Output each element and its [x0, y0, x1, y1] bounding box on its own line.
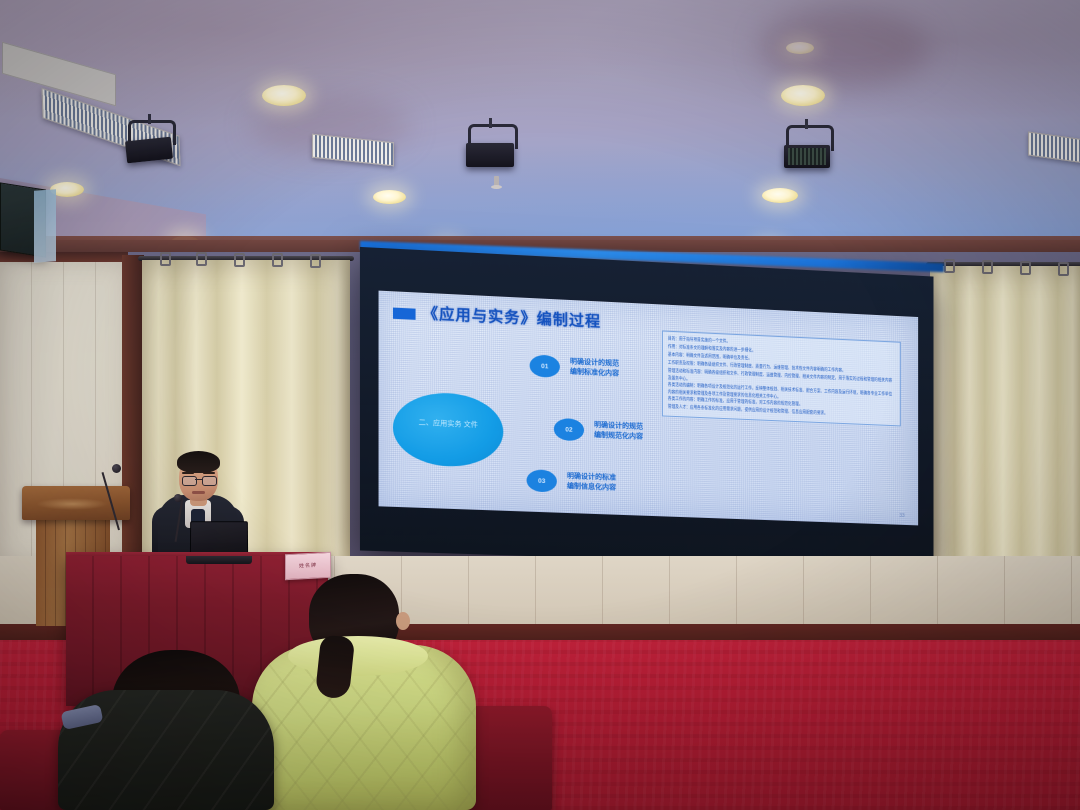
- name-placard-text: 姓名牌: [286, 561, 330, 570]
- step-label-01: 明确设计的规范 编制标准化内容: [570, 357, 619, 380]
- slide-page-number: 33: [899, 513, 904, 519]
- stage-spotlight: [466, 143, 514, 167]
- step-item-03: 03 明确设计的标准 编制信息化内容: [527, 469, 617, 494]
- name-placard: 姓名牌: [285, 552, 331, 580]
- audience-collar: [288, 636, 428, 676]
- stage-spotlight-lens: [788, 148, 826, 165]
- recessed-downlight: [762, 188, 798, 203]
- step-label-02: 明确设计的规范 编制规范化内容: [594, 420, 643, 443]
- step-number-01: 01: [530, 354, 560, 378]
- presenter-mouth: [192, 491, 205, 494]
- step-item-01: 01 明确设计的规范 编制标准化内容: [530, 354, 619, 380]
- presenter-eyebrow: [203, 472, 215, 474]
- recessed-downlight: [262, 85, 306, 106]
- step-number-02: 02: [554, 418, 584, 441]
- recessed-downlight: [786, 42, 814, 54]
- projection-screen: 《应用与实务》编制过程 二、应用实务 文件 01 明确设计的规范 编制标准化内容…: [360, 247, 934, 569]
- center-bubble: 二、应用实务 文件: [393, 391, 503, 468]
- stage-spotlight-stem: [148, 114, 151, 124]
- slide-surface: 《应用与实务》编制过程 二、应用实务 文件 01 明确设计的规范 编制标准化内容…: [379, 291, 919, 526]
- presenter-eyebrow: [182, 472, 194, 474]
- step-number-03: 03: [527, 469, 557, 492]
- slide-title: 《应用与实务》编制过程: [423, 302, 601, 332]
- laptop-base: [186, 556, 252, 564]
- conference-hall-photo: 《应用与实务》编制过程 二、应用实务 文件 01 明确设计的规范 编制标准化内容…: [0, 0, 1080, 810]
- slide-title-marker: [393, 308, 416, 320]
- presentation-slide: 《应用与实务》编制过程 二、应用实务 文件 01 明确设计的规范 编制标准化内容…: [379, 291, 919, 526]
- recessed-downlight: [373, 190, 406, 204]
- glasses-icon: [182, 476, 197, 486]
- fire-sprinkler: [494, 176, 499, 188]
- microphone-head: [174, 494, 182, 502]
- center-bubble-label: 二、应用实务 文件: [393, 417, 503, 431]
- stage-spotlight-stem: [489, 118, 492, 128]
- presenter-hair: [177, 451, 220, 473]
- slide-text-block: 目的：用于指导项目实施的一个文件。 作用：对标准条文的理解和落实及内容的进一步细…: [662, 330, 901, 426]
- glasses-bridge: [195, 479, 202, 480]
- glasses-icon: [202, 476, 217, 486]
- recessed-downlight: [781, 85, 825, 106]
- audience-ear: [396, 612, 410, 630]
- microphone-head: [112, 464, 121, 473]
- wall-speaker-face: [34, 189, 56, 263]
- stage-spotlight-stem: [805, 119, 808, 129]
- step-label-03: 明确设计的标准 编制信息化内容: [567, 471, 616, 494]
- step-item-02: 02 明确设计的规范 编制规范化内容: [554, 418, 643, 444]
